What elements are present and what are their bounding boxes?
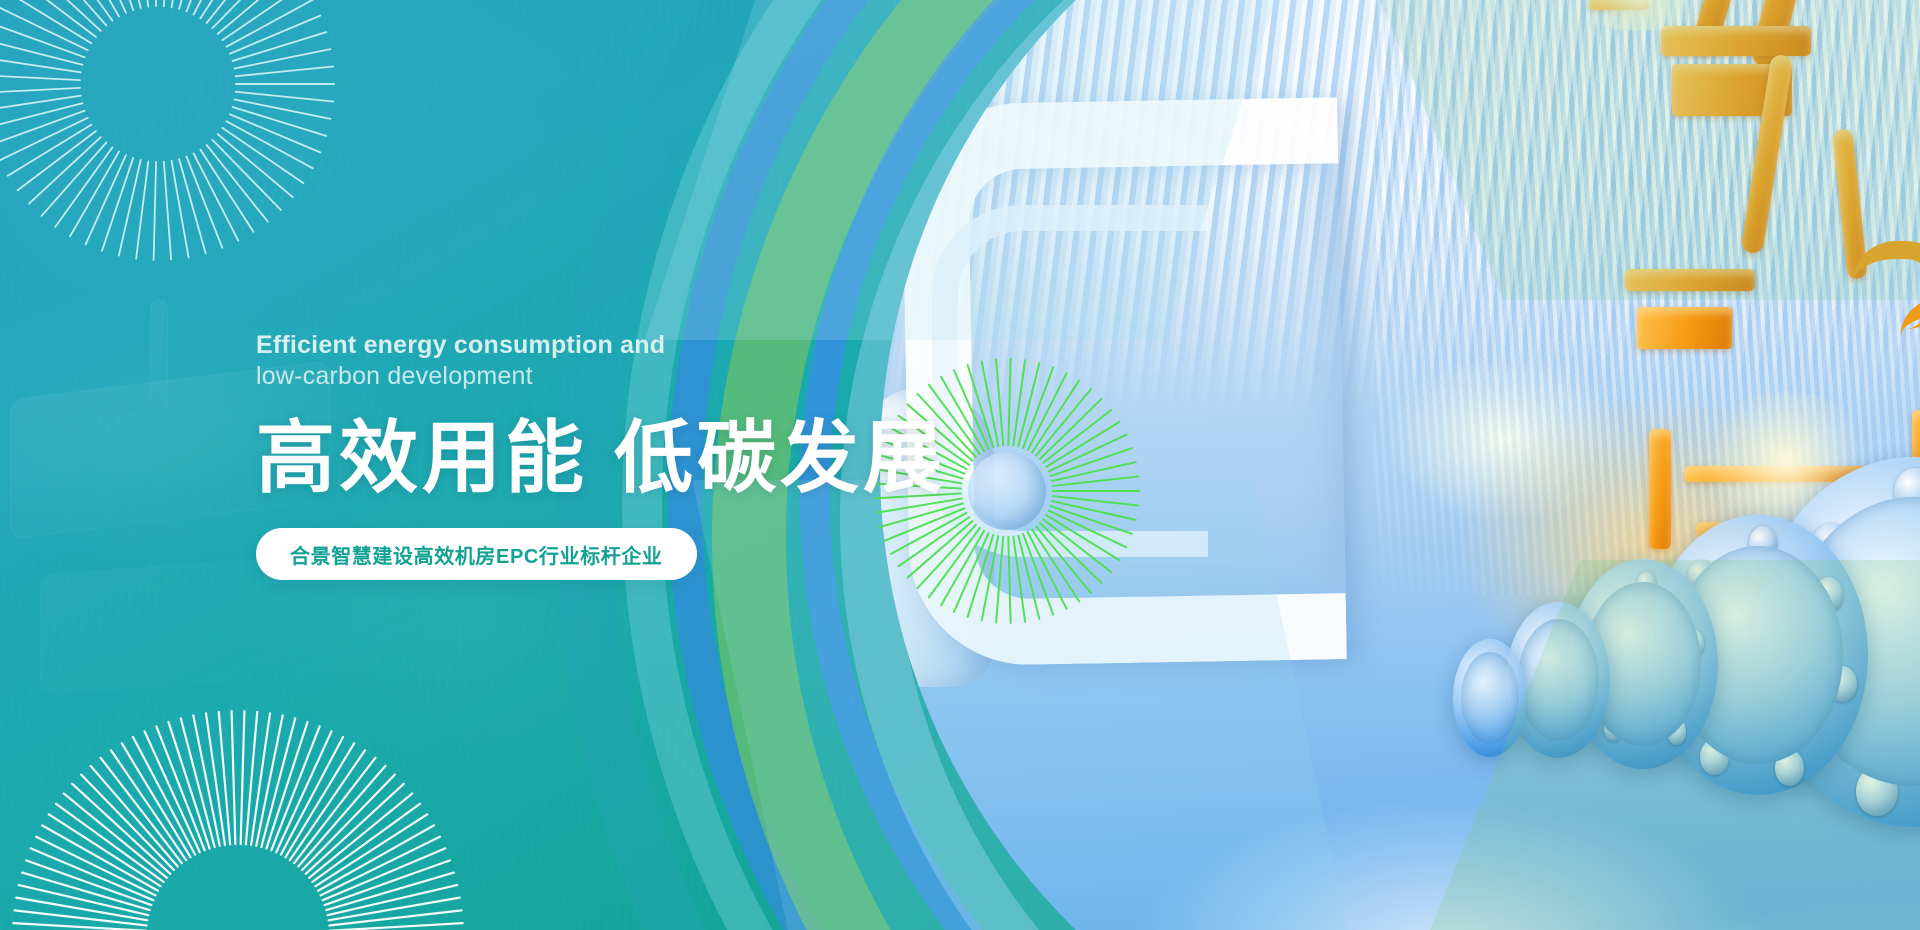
- english-subtitle-line-1: Efficient energy consumption and: [256, 330, 1016, 361]
- hero-banner: Efficient energy consumption and low-car…: [0, 0, 1920, 930]
- hero-copy: Efficient energy consumption and low-car…: [256, 330, 1016, 580]
- photo-floor-reflection: [1577, 893, 1920, 930]
- sunburst-icon: [0, 0, 338, 264]
- sunburst-icon: [28, 706, 448, 930]
- english-subtitle-line-2: low-carbon development: [256, 361, 1016, 392]
- background-shape: [150, 300, 168, 420]
- english-subtitle: Efficient energy consumption and low-car…: [256, 330, 1016, 392]
- photo-flange-pipes: [1400, 413, 1920, 930]
- page-title: 高效用能 低碳发展: [256, 416, 1016, 500]
- cta-button[interactable]: 合景智慧建设高效机房EPC行业标杆企业: [256, 528, 697, 580]
